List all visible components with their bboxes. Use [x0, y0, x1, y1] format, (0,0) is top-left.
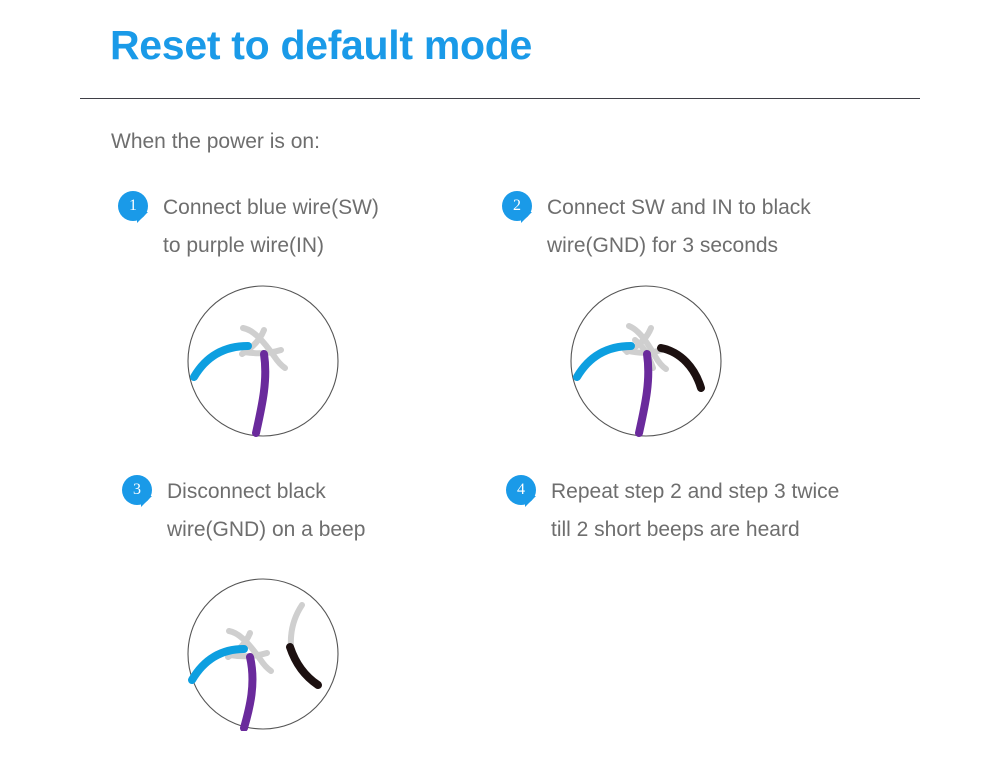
blue-wire: [194, 346, 248, 377]
step-1-badge: 1: [118, 191, 148, 221]
step-3-line-2: wire(GND) on a beep: [167, 511, 365, 549]
step-2: 2 Connect SW and IN to black wire(GND) f…: [502, 189, 811, 265]
step-4-line-1: Repeat step 2 and step 3 twice: [551, 473, 839, 511]
step-2-line-2: wire(GND) for 3 seconds: [547, 227, 811, 265]
purple-wire: [244, 657, 252, 728]
step-2-number: 2: [502, 191, 532, 221]
step-3-badge: 3: [122, 475, 152, 505]
reset-instructions-page: Reset to default mode When the power is …: [0, 0, 1000, 783]
illustration-black-disconnected: [186, 577, 340, 736]
black-wire: [290, 647, 318, 685]
bare-wire-tip-detached-icon: [291, 605, 302, 647]
step-3-number: 3: [122, 475, 152, 505]
illustration-blue-purple-twisted: [186, 284, 340, 443]
step-4-line-2: till 2 short beeps are heard: [551, 511, 839, 549]
step-1-line-2: to purple wire(IN): [163, 227, 379, 265]
step-4-text: Repeat step 2 and step 3 twice till 2 sh…: [551, 473, 839, 549]
step-3: 3 Disconnect black wire(GND) on a beep: [122, 473, 365, 549]
page-title: Reset to default mode: [110, 22, 532, 69]
purple-wire: [256, 354, 265, 433]
step-4: 4 Repeat step 2 and step 3 twice till 2 …: [506, 473, 839, 549]
step-2-badge: 2: [502, 191, 532, 221]
step-3-line-1: Disconnect black: [167, 473, 365, 511]
step-1-line-1: Connect blue wire(SW): [163, 189, 379, 227]
illustration-blue-purple-black-twisted: [569, 284, 723, 443]
step-1-text: Connect blue wire(SW) to purple wire(IN): [163, 189, 379, 265]
intro-text: When the power is on:: [111, 130, 320, 154]
step-3-text: Disconnect black wire(GND) on a beep: [167, 473, 365, 549]
header-divider: [80, 98, 920, 99]
step-4-badge: 4: [506, 475, 536, 505]
step-2-line-1: Connect SW and IN to black: [547, 189, 811, 227]
step-4-number: 4: [506, 475, 536, 505]
step-1-number: 1: [118, 191, 148, 221]
purple-wire: [639, 354, 648, 433]
step-1: 1 Connect blue wire(SW) to purple wire(I…: [118, 189, 379, 265]
step-2-text: Connect SW and IN to black wire(GND) for…: [547, 189, 811, 265]
